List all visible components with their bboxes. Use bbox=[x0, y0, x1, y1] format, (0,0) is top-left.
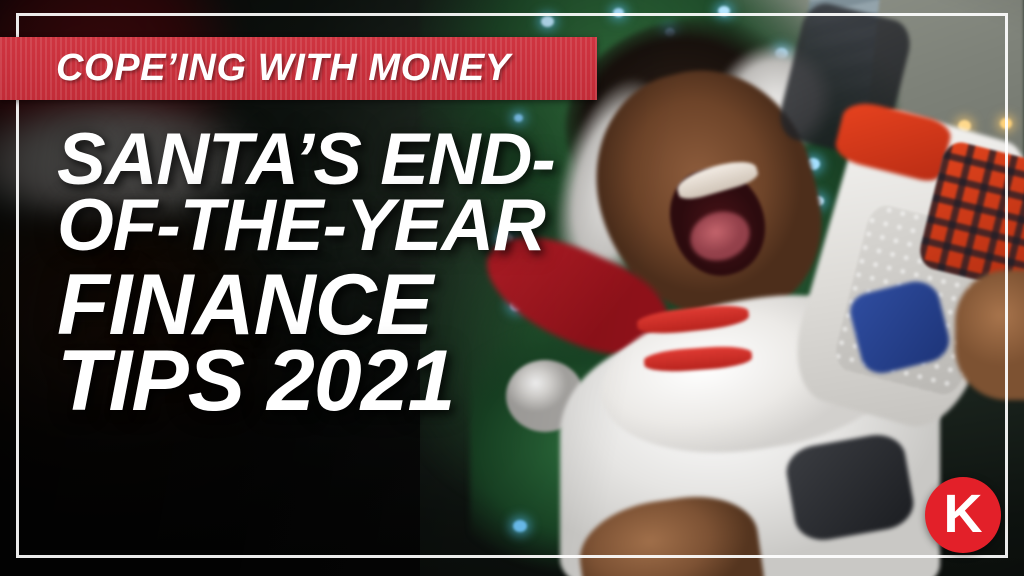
video-thumbnail: COPE’ING WITH MONEY SANTA’S END- OF-THE-… bbox=[0, 0, 1024, 576]
headline-line-2: OF-THE-YEAR bbox=[57, 192, 617, 260]
show-title-banner: COPE’ING WITH MONEY bbox=[0, 37, 597, 100]
headline-block: SANTA’S END- OF-THE-YEAR FINANCE TIPS 20… bbox=[57, 126, 617, 422]
show-title-text: COPE’ING WITH MONEY bbox=[0, 47, 511, 90]
logo-letter-k: K bbox=[944, 487, 983, 541]
headline-line-4: TIPS 2021 bbox=[57, 342, 617, 422]
channel-logo-badge[interactable]: K bbox=[925, 477, 1001, 553]
headline-line-1: SANTA’S END- bbox=[57, 126, 617, 194]
